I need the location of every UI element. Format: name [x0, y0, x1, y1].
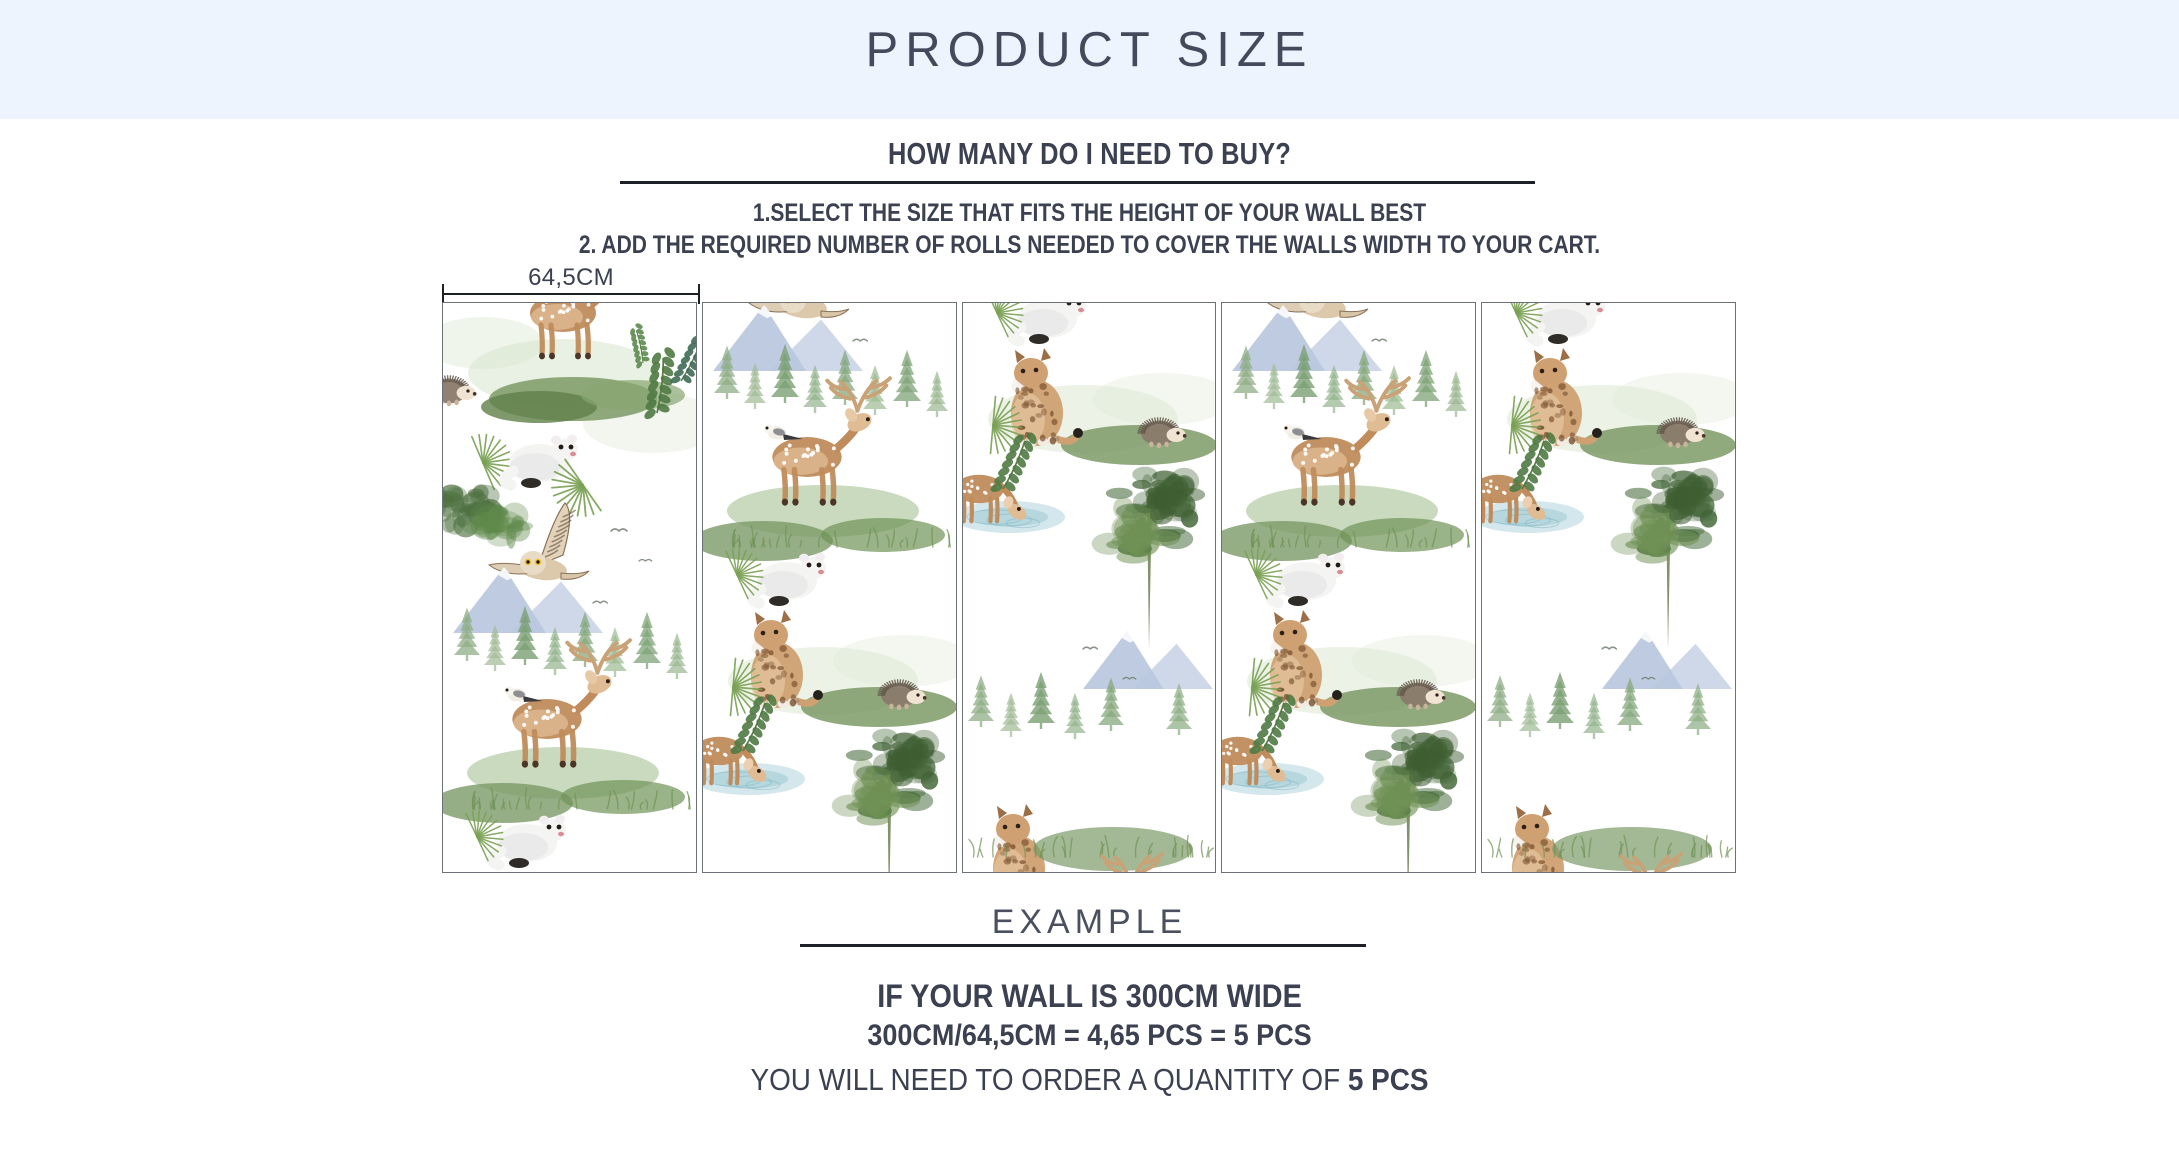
wallpaper-panel-strip — [442, 302, 1736, 873]
dimension-width-label: 64,5CM — [442, 264, 700, 292]
dimension-tick-left — [442, 284, 444, 304]
wallpaper-artwork — [703, 303, 957, 873]
wallpaper-panel-4[interactable] — [1221, 302, 1476, 873]
instructions-heading: HOW MANY DO I NEED TO BUY? — [196, 136, 1983, 172]
example-wall-line: IF YOUR WALL IS 300CM WIDE — [109, 978, 2070, 1015]
wallpaper-artwork — [443, 303, 697, 873]
example-divider — [800, 944, 1366, 947]
dimension-tick-right — [698, 284, 700, 304]
wallpaper-artwork — [1482, 303, 1736, 873]
order-quantity: 5 PCS — [1348, 1062, 1429, 1097]
example-title: EXAMPLE — [0, 903, 2179, 942]
order-prefix: YOU WILL NEED TO ORDER A QUANTITY OF — [750, 1062, 1347, 1097]
example-order-line: YOU WILL NEED TO ORDER A QUANTITY OF 5 P… — [109, 1062, 2070, 1098]
heading-divider — [620, 181, 1535, 184]
wallpaper-artwork — [1222, 303, 1476, 873]
wallpaper-panel-1[interactable] — [442, 302, 697, 873]
dimension-line — [442, 293, 700, 295]
instruction-step-1: 1.SELECT THE SIZE THAT FITS THE HEIGHT O… — [174, 199, 2004, 228]
example-calc-line: 300CM/64,5CM = 4,65 PCS = 5 PCS — [109, 1019, 2070, 1053]
instruction-step-2: 2. ADD THE REQUIRED NUMBER OF ROLLS NEED… — [174, 231, 2004, 260]
wallpaper-artwork — [963, 303, 1217, 873]
wallpaper-panel-5[interactable] — [1481, 302, 1736, 873]
wallpaper-panel-2[interactable] — [702, 302, 957, 873]
page-title: PRODUCT SIZE — [0, 22, 2179, 78]
wallpaper-panel-3[interactable] — [962, 302, 1217, 873]
